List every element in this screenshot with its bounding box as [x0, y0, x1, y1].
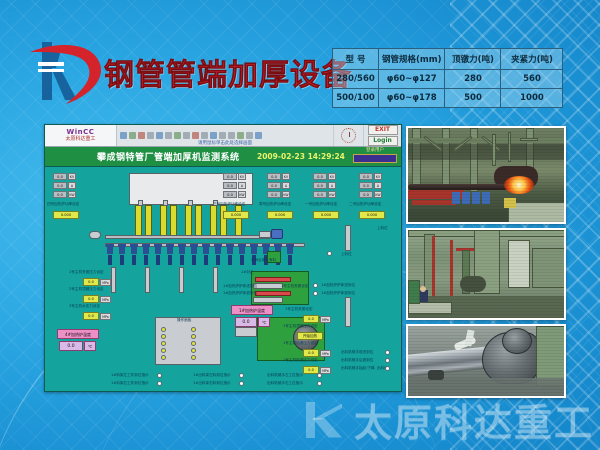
table-header-cell: 顶镦力(吨): [445, 49, 501, 70]
photo-pipe-heating-line: [406, 126, 566, 224]
toolbar-actions: EXIT Login: [363, 125, 401, 146]
induction-coil: [235, 205, 242, 237]
table-cell: 560: [501, 70, 563, 89]
pressure-setting-label: 1号主机夹紧设定: [285, 308, 312, 312]
furnace-temp-label: 4#加热炉温度: [57, 329, 99, 339]
power-readout-unit: KV: [328, 173, 336, 180]
power-readout: 0.0: [359, 191, 373, 198]
furnace-temp-label: 1#加热炉温度: [231, 305, 273, 315]
scada-screenshot: WinCC 太原科达重工 请用鼠标单击此处选择画面 EXIT: [44, 124, 402, 392]
wincc-toolbar-icons[interactable]: 请用鼠标单击此处选择画面: [117, 125, 333, 146]
clamp-slide: [253, 283, 283, 289]
power-readout: 0.0: [267, 173, 281, 180]
status-led: [157, 373, 162, 378]
status-led: [313, 291, 318, 296]
redo-icon[interactable]: [183, 132, 190, 139]
table-cell: 280/560: [333, 70, 379, 89]
copy-icon[interactable]: [156, 132, 163, 139]
power-group-label: 四号加热炉功率设定: [47, 203, 79, 207]
status-label: 出料机械手前进到位: [341, 351, 373, 355]
induction-coil: [210, 205, 217, 237]
power-readout: 0.0: [223, 191, 237, 198]
status-label: 出料机械手右工位指示: [267, 382, 303, 386]
power-readout-unit: KW: [282, 191, 290, 198]
pressure-setting-value[interactable]: 0.0: [83, 295, 99, 303]
status-led: [313, 283, 318, 288]
feed-cylinder: [235, 327, 257, 337]
power-readout-unit: A: [238, 182, 246, 189]
power-readout: 0.0: [313, 191, 327, 198]
pressure-setting-label: 2号主机顶镦压力设定: [69, 288, 104, 292]
help-icon[interactable]: [237, 132, 244, 139]
table-header-cell: 型 号: [333, 49, 379, 70]
table-header-row: 型 号 钢管规格(mm) 顶镦力(吨) 夹紧力(吨): [333, 49, 563, 70]
zoom-out-icon[interactable]: [228, 132, 235, 139]
trend-icon[interactable]: [201, 132, 208, 139]
watermark-text: 太原科达重工: [354, 392, 594, 447]
kd-logo-icon: [28, 36, 104, 106]
status-led: [385, 366, 390, 371]
mimic-label: 1#加热炉炉体退到位: [223, 292, 257, 296]
hydraulic-cylinder: [179, 267, 184, 293]
pressure-setting-unit: MPa: [320, 316, 331, 323]
induction-coil: [195, 205, 202, 237]
scada-datetime: 2009-02-23 14:29:24: [257, 152, 345, 161]
slide-header: 钢管管端加厚设备: [28, 34, 328, 110]
photo-upsetting-press-machine: [406, 228, 566, 320]
power-readout: 0.0: [313, 173, 327, 180]
photo-thickened-pipe-end-closeup: [406, 324, 566, 398]
power-readout-unit: KV: [282, 173, 290, 180]
power-setpoint[interactable]: 0.000: [53, 211, 79, 219]
lift-cylinder: [345, 297, 351, 327]
power-readout: 0.0: [359, 182, 373, 189]
clock-widget: [333, 125, 363, 146]
inlet-unit: [89, 231, 101, 239]
table-header-cell: 钢管规格(mm): [379, 49, 445, 70]
status-label: 出料机械手后退到位: [341, 359, 373, 363]
power-setpoint[interactable]: 0.000: [267, 211, 293, 219]
control-panel-title: 操作面板: [177, 319, 191, 323]
motor-base: [259, 231, 271, 238]
induction-coil: [135, 205, 142, 237]
power-readout: 0.0: [53, 191, 67, 198]
status-label: 1#料架左工件到位指示: [111, 374, 149, 378]
status-label: 出料机械手抬起/下降: [341, 367, 375, 371]
pressure-setting-value[interactable]: 0.0: [303, 349, 319, 357]
wincc-logo-text: WinCC: [67, 129, 95, 136]
status-label: 1#出料架左料到位指示: [193, 374, 231, 378]
induction-coil: [160, 205, 167, 237]
status-label: 1#出料架右料到位指示: [193, 382, 231, 386]
pressure-setting-label: 1号主机夹紧压力设定: [69, 271, 104, 275]
wincc-brand-sub: 太原科达重工: [65, 137, 95, 142]
power-readout: 0.0: [267, 182, 281, 189]
logged-user-panel: 登录用户: [353, 148, 397, 163]
coil-connector: [188, 200, 193, 206]
cut-icon[interactable]: [147, 132, 154, 139]
toolbar-caption: 请用鼠标单击此处选择画面: [198, 140, 252, 146]
zoom-in-icon[interactable]: [219, 132, 226, 139]
pressure-setting-value[interactable]: 0.0: [83, 312, 99, 320]
induction-coil: [145, 205, 152, 237]
wincc-brand: WinCC 太原科达重工: [45, 125, 117, 146]
exit-button[interactable]: EXIT: [368, 125, 398, 135]
table-header-cell: 夹紧力(吨): [501, 49, 563, 70]
conveyor-rail: [105, 235, 270, 239]
clamp-slide: [253, 297, 283, 303]
power-readout-unit: KW: [328, 191, 336, 198]
power-readout: 0.0: [313, 182, 327, 189]
pressure-setting-label: 1号主机顶镦压力设定: [283, 325, 318, 329]
power-setpoint[interactable]: 0.000: [313, 211, 339, 219]
power-readout-unit: KV: [374, 173, 382, 180]
mimic-label: 上料位: [377, 227, 388, 231]
power-setpoint[interactable]: 0.000: [223, 211, 249, 219]
power-group-label: 三号加热炉功率设定: [213, 203, 245, 207]
login-button[interactable]: Login: [368, 136, 398, 146]
power-readout: 0.0: [267, 191, 281, 198]
open-icon[interactable]: [120, 132, 127, 139]
paste-icon[interactable]: [165, 132, 172, 139]
specification-table: 型 号 钢管规格(mm) 顶镦力(吨) 夹紧力(吨) 280/560 φ60~φ…: [332, 48, 563, 108]
undo-icon[interactable]: [174, 132, 181, 139]
page-title: 钢管管端加厚设备: [104, 50, 352, 94]
pressure-setting-value[interactable]: 0.0: [303, 366, 319, 374]
pressure-setting-label: 1号主机夹紧设定: [281, 285, 308, 289]
pressure-setting-label: 1号主机前进压力设定: [283, 359, 318, 363]
power-readout: 0.0: [223, 182, 237, 189]
report-icon[interactable]: [210, 132, 217, 139]
hydraulic-cylinder: [111, 267, 116, 293]
mimic-label: 1#加热炉炉体进到位: [321, 284, 355, 288]
induction-coil: [185, 205, 192, 237]
status-led: [317, 373, 322, 378]
hydraulic-cylinder: [145, 267, 150, 293]
pressure-setting-unit: MPa: [100, 279, 111, 286]
process-mimic-diagram: 0.0 KV 0.0 A 0.0 KW 四号加热炉功率设定 0.000 0.0 …: [45, 167, 402, 392]
table-cell: 500: [445, 89, 501, 108]
pressure-setting-value[interactable]: 0.0: [83, 278, 99, 286]
power-group-label: 一号加热炉功率设定: [305, 203, 337, 207]
power-readout-unit: A: [68, 182, 76, 189]
clamp-jaw: [255, 291, 291, 296]
status-led: [239, 373, 244, 378]
settings-icon[interactable]: [246, 132, 253, 139]
print-icon[interactable]: [138, 132, 145, 139]
drive-motor: [271, 229, 283, 239]
pressure-setting-value[interactable]: 开始加热: [297, 332, 323, 340]
pressure-setting-label: 1号主机后退压力设定: [283, 342, 318, 346]
coil-connector: [163, 200, 168, 206]
watermark-logo-icon: [300, 400, 346, 440]
status-label: 出料机械手左工位指示: [267, 374, 303, 378]
table-cell: 280: [445, 70, 501, 89]
power-readout: 0.0: [359, 173, 373, 180]
power-readout-unit: A: [328, 182, 336, 189]
clamp-jaw: [255, 277, 291, 282]
induction-coil: [220, 205, 227, 237]
mimic-label: 上料位: [341, 253, 352, 257]
power-setpoint[interactable]: 0.000: [359, 211, 385, 219]
furnace-temp-value: 0.0: [235, 317, 257, 327]
power-readout-unit: A: [282, 182, 290, 189]
status-led: [327, 251, 332, 256]
furnace-temp-value: 0.0: [59, 341, 83, 351]
hydraulic-cylinder: [213, 267, 218, 293]
furnace-temp-unit: ℃: [84, 341, 96, 351]
table-cell: 500/100: [333, 89, 379, 108]
status-led: [385, 350, 390, 355]
save-icon[interactable]: [129, 132, 136, 139]
mimic-label: 1#加热炉炉体进到位: [223, 285, 257, 289]
status-label: 1#料架右工件到位指示: [111, 382, 149, 386]
screen-select-icon[interactable]: [255, 132, 262, 139]
power-readout-unit: A: [374, 182, 382, 189]
status-led: [317, 381, 322, 386]
power-readout: 0.0: [53, 182, 67, 189]
power-readout-unit: KW: [374, 191, 382, 198]
table-row: 500/100 φ60~φ178 500 1000: [333, 89, 563, 108]
company-watermark: 太原科达重工: [300, 392, 594, 447]
mimic-label: 中间台架上有料: [251, 259, 276, 263]
status-led: [157, 381, 162, 386]
power-group-label: 零号加热炉功率设定: [259, 203, 291, 207]
pressure-setting-unit: MPa: [100, 296, 111, 303]
power-group-label: 二号加热炉功率设定: [349, 203, 381, 207]
power-readout: 0.0: [223, 173, 237, 180]
mimic-label: 1#加热炉炉体退到位: [321, 292, 355, 296]
power-readout-unit: KW: [238, 191, 246, 198]
pressure-setting-unit: MPa: [100, 313, 111, 320]
induction-coil: [170, 205, 177, 237]
power-readout-unit: KV: [68, 173, 76, 180]
table-cell: φ60~φ178: [379, 89, 445, 108]
alarm-icon[interactable]: [192, 132, 199, 139]
pressure-setting-unit: MPa: [320, 350, 331, 357]
table-row: 280/560 φ60~φ127 280 560: [333, 70, 563, 89]
clock-face-icon: [341, 128, 356, 143]
power-readout-unit: KV: [238, 173, 246, 180]
pressure-setting-label: 3号主机水压力设定: [69, 305, 100, 309]
pressure-setting-unit: MPa: [320, 367, 331, 374]
lift-cylinder: [345, 225, 351, 251]
furnace-temp-unit: ℃: [258, 317, 270, 327]
pressure-setting-value[interactable]: 0.0: [303, 315, 319, 323]
table-cell: φ60~φ127: [379, 70, 445, 89]
coil-connector: [138, 200, 143, 206]
scada-system-title: 攀成钢特管厂管端加厚机监测系统: [97, 150, 240, 163]
scada-title-bar: 攀成钢特管厂管端加厚机监测系统 2009-02-23 14:29:24 登录用户: [45, 147, 401, 167]
status-led: [239, 381, 244, 386]
power-readout: 0.0: [53, 173, 67, 180]
mimic-label: 1#对正: [241, 271, 254, 275]
table-cell: 1000: [501, 89, 563, 108]
power-readout-unit: KW: [68, 191, 76, 198]
wincc-toolbar: WinCC 太原科达重工 请用鼠标单击此处选择画面 EXIT: [45, 125, 401, 147]
logged-user-value[interactable]: [353, 154, 397, 163]
status-led: [385, 358, 390, 363]
